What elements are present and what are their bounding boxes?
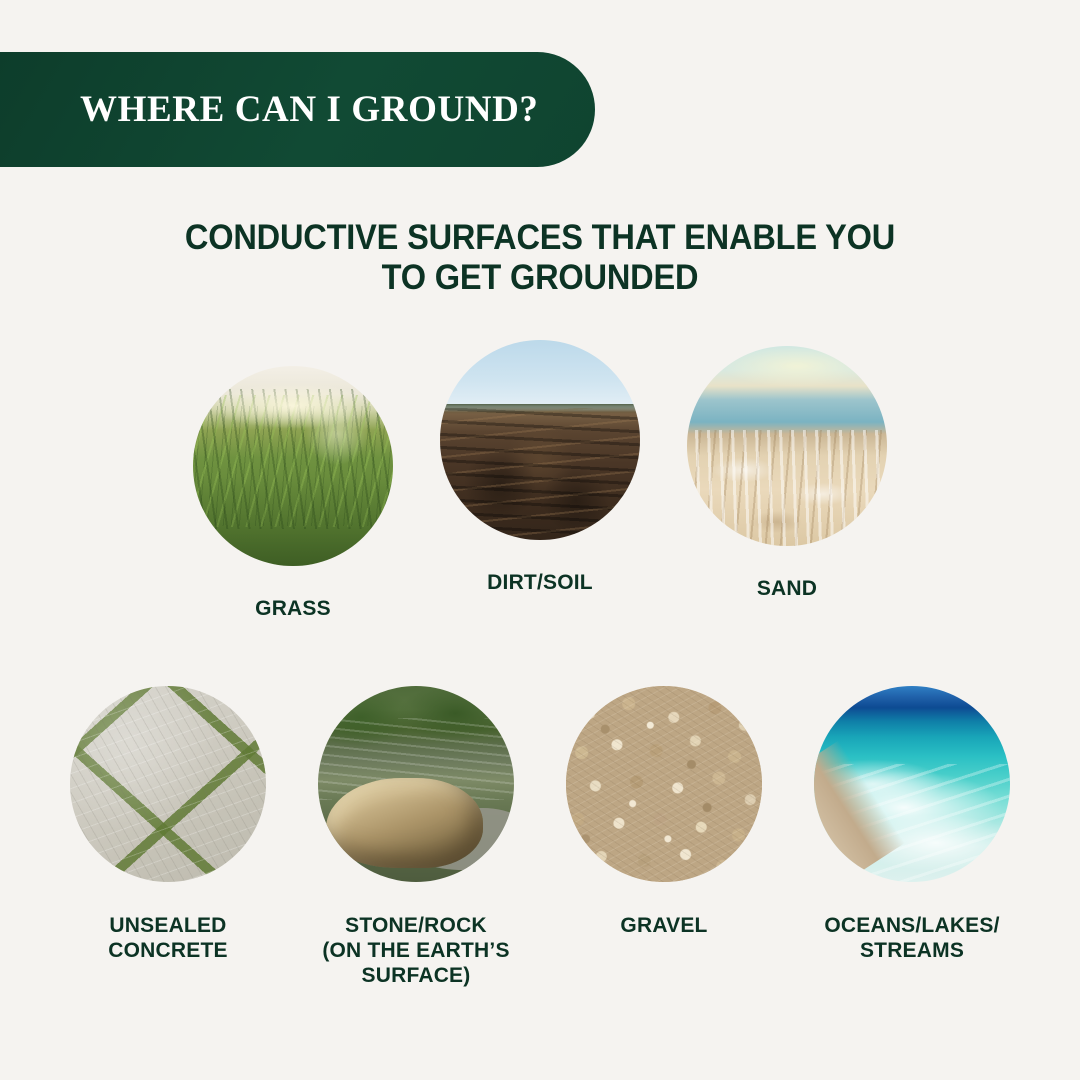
unsealed-concrete-photo [70,686,266,882]
surface-label-stone-rock: STONE/ROCK(ON THE EARTH’SSURFACE) [322,914,509,988]
stone-rock-photo [318,686,514,882]
surface-item-stone-rock: STONE/ROCK(ON THE EARTH’SSURFACE) [292,686,540,988]
header-banner: WHERE CAN I GROUND? [0,52,595,167]
page-title-line-1: CONDUCTIVE SURFACES THAT ENABLE YOU [38,218,1042,258]
dirt-soil-photo [440,340,640,540]
page-title: CONDUCTIVE SURFACES THAT ENABLE YOU TO G… [38,218,1042,297]
page-title-line-2: TO GET GROUNDED [38,258,1042,298]
surface-row-1: GRASS DIRT/SOIL SAND [0,340,1080,622]
surface-label-oceans-lakes-streams: OCEANS/LAKES/STREAMS [824,914,999,964]
surface-item-dirt-soil: DIRT/SOIL [417,340,664,596]
surface-label-sand: SAND [757,577,817,602]
surface-label-dirt-soil: DIRT/SOIL [487,571,593,596]
gravel-photo [566,686,762,882]
surface-row-2: UNSEALEDCONCRETE STONE/ROCK(ON THE EARTH… [0,686,1080,988]
surface-label-grass: GRASS [255,597,331,622]
surface-item-gravel: GRAVEL [540,686,788,939]
surface-item-sand: SAND [664,340,911,602]
grass-photo [193,366,393,566]
banner-title: WHERE CAN I GROUND? [80,88,539,131]
sand-photo [687,346,887,546]
surface-label-unsealed-concrete: UNSEALEDCONCRETE [108,914,227,964]
surface-item-grass: GRASS [170,340,417,622]
ocean-lake-stream-photo [814,686,1010,882]
surface-item-oceans-lakes-streams: OCEANS/LAKES/STREAMS [788,686,1036,964]
surface-label-gravel: GRAVEL [620,914,707,939]
surface-item-unsealed-concrete: UNSEALEDCONCRETE [44,686,292,964]
